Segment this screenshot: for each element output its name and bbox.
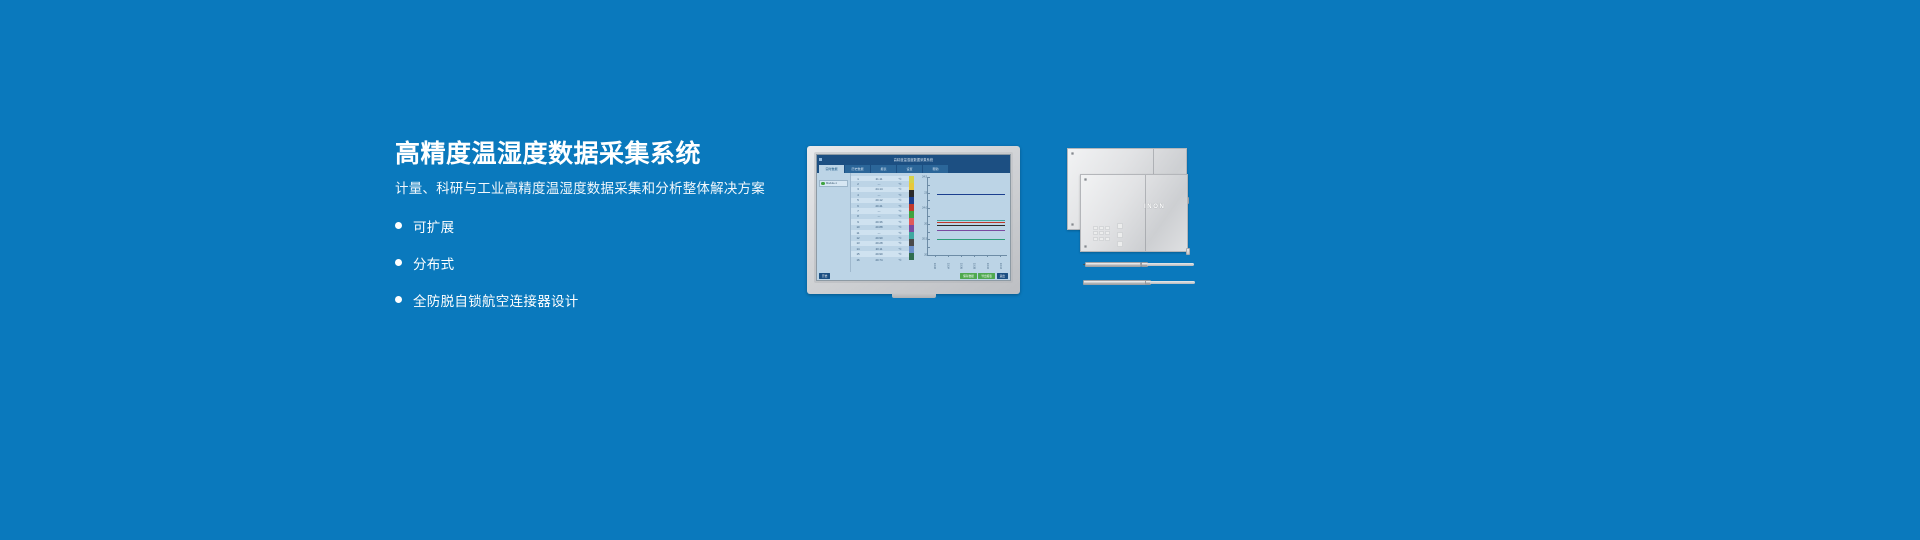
tab-history[interactable]: 历史数据: [845, 165, 870, 173]
tab-realtime[interactable]: 实时数据: [819, 165, 844, 173]
table-row[interactable]: 7---℃: [851, 208, 909, 213]
table-row[interactable]: 121.11℃: [851, 176, 909, 181]
table-row[interactable]: 8---℃: [851, 214, 909, 219]
x-tick-label: 10:32: [933, 263, 936, 269]
bullet-dot-icon: [395, 259, 402, 266]
table-row[interactable]: 1620.74℃: [851, 257, 909, 262]
cell-value: 20.41: [865, 204, 893, 208]
feature-label: 可扩展: [413, 216, 454, 236]
connector-tab: [1186, 248, 1191, 255]
monitor-stand: [892, 293, 936, 298]
cell-value: 20.90: [865, 252, 893, 256]
x-tick-label: 10:40: [986, 263, 989, 269]
cell-unit: ℃: [893, 247, 907, 251]
y-tick-label: 20: [918, 254, 927, 257]
tree-item-label: Module-1: [826, 182, 837, 185]
cell-value: 20.28: [865, 241, 893, 245]
y-tick-label: 24.0: [918, 207, 927, 210]
legend-swatch: [909, 176, 914, 183]
cell-unit: ℃: [893, 214, 907, 218]
temperature-probe-upper: [1083, 262, 1195, 267]
cell-channel: 14: [851, 247, 865, 251]
cell-channel: 7: [851, 209, 865, 213]
probe-sheath: [1085, 262, 1141, 266]
x-tick-label: 10:38: [973, 263, 976, 269]
page-subtitle: 计量、科研与工业高精度温湿度数据采集和分析整体解决方案: [395, 180, 795, 198]
cell-channel: 11: [851, 231, 865, 235]
x-tick-label: 10:34: [946, 263, 949, 269]
monitor-bezel: 高精度温湿度数据采集系统 实时数据 历史数据 报表 设置 帮助 Module-1: [814, 152, 1013, 283]
port-block: [1117, 223, 1123, 230]
port-block: [1117, 241, 1123, 248]
cell-value: 21.11: [865, 177, 893, 181]
legend-swatch: [909, 253, 914, 260]
table-row[interactable]: 620.41℃: [851, 203, 909, 208]
screw-icon: [1071, 223, 1074, 226]
app-logo-icon: [819, 158, 822, 161]
cell-value: 20.88: [865, 225, 893, 229]
cell-unit: ℃: [893, 193, 907, 197]
probe-tip: [1147, 263, 1194, 266]
acquisition-module-front: INON: [1080, 174, 1188, 252]
tab-report[interactable]: 报表: [871, 165, 896, 173]
start-button[interactable]: 开始: [819, 273, 830, 279]
cell-channel: 2: [851, 182, 865, 186]
legend-swatch: [909, 218, 914, 225]
legend-swatch: [909, 204, 914, 211]
series-legend-strip: [909, 176, 914, 260]
cell-value: 20.12: [865, 198, 893, 202]
table-row[interactable]: 920.36℃: [851, 219, 909, 224]
brand-logo-front: INON: [1144, 204, 1165, 210]
cell-unit: ℃: [893, 231, 907, 235]
cell-unit: ℃: [893, 236, 907, 240]
tab-settings[interactable]: 设置: [897, 165, 922, 173]
chart-series-ch5: [937, 222, 1005, 223]
cell-value: ---: [865, 231, 893, 235]
app-window-title: 高精度温湿度数据采集系统: [894, 157, 933, 162]
vent-grid: [1093, 226, 1110, 241]
table-row[interactable]: 520.12℃: [851, 198, 909, 203]
device-tree-panel: Module-1: [817, 173, 851, 272]
cell-unit: ℃: [893, 187, 907, 191]
table-row[interactable]: 4---℃: [851, 192, 909, 197]
page-title: 高精度温湿度数据采集系统: [395, 140, 795, 168]
sensor-probe-group: [1083, 258, 1198, 294]
chart-series-ch3: [937, 194, 1005, 195]
chart-series-ch9: [937, 225, 1005, 226]
cell-unit: ℃: [893, 220, 907, 224]
port-block: [1117, 232, 1123, 239]
app-footer-toolbar: 开始 保存数据 导出报表 退出: [817, 272, 1010, 280]
table-row[interactable]: 1320.28℃: [851, 241, 909, 246]
cell-unit: ℃: [893, 209, 907, 213]
cell-channel: 12: [851, 236, 865, 240]
app-titlebar: 高精度温湿度数据采集系统: [817, 155, 1010, 164]
y-tick-label: 24.5: [918, 176, 927, 179]
save-data-button[interactable]: 保存数据: [960, 273, 977, 279]
cell-unit: ℃: [893, 182, 907, 186]
cell-channel: 10: [851, 225, 865, 229]
table-row[interactable]: 1220.90℃: [851, 235, 909, 240]
monitor-screen: 高精度温湿度数据采集系统 实时数据 历史数据 报表 设置 帮助 Module-1: [816, 154, 1011, 281]
screw-icon: [1084, 245, 1087, 248]
probe-tip: [1150, 281, 1195, 284]
screw-icon: [1071, 152, 1074, 155]
banner-copy: 高精度温湿度数据采集系统 计量、科研与工业高精度温湿度数据采集和分析整体解决方案…: [395, 140, 795, 324]
table-row[interactable]: 1420.11℃: [851, 246, 909, 251]
cell-value: 24.14: [865, 187, 893, 191]
legend-swatch: [909, 225, 914, 232]
product-banner: 高精度温湿度数据采集系统 计量、科研与工业高精度温湿度数据采集和分析整体解决方案…: [0, 0, 1920, 540]
tab-help[interactable]: 帮助: [923, 165, 948, 173]
table-row[interactable]: 1020.88℃: [851, 225, 909, 230]
cell-unit: ℃: [893, 204, 907, 208]
cell-value: 20.90: [865, 236, 893, 240]
app-body: Module-1 121.11℃2---℃324.14℃4---℃520.12℃…: [817, 173, 1010, 272]
cell-unit: ℃: [893, 252, 907, 256]
legend-swatch: [909, 232, 914, 239]
chart-series-ch12: [937, 230, 1005, 231]
cell-unit: ℃: [893, 225, 907, 229]
cell-channel: 15: [851, 252, 865, 256]
legend-swatch: [909, 239, 914, 246]
cell-value: 20.74: [865, 258, 893, 262]
y-tick-label: 23: [918, 191, 927, 194]
exit-button[interactable]: 退出: [997, 273, 1008, 279]
cell-value: 20.11: [865, 247, 893, 251]
cell-channel: 3: [851, 187, 865, 191]
legend-swatch: [909, 246, 914, 253]
temperature-probe-lower: [1083, 280, 1195, 285]
list-item: 分布式: [395, 250, 795, 275]
panel-seam: [1145, 175, 1146, 251]
legend-swatch: [909, 183, 914, 190]
cell-channel: 1: [851, 177, 865, 181]
cell-value: ---: [865, 214, 893, 218]
cell-channel: 6: [851, 204, 865, 208]
y-tick-label: 20.5: [918, 238, 927, 241]
feature-list: 可扩展 分布式 全防脱自锁航空连接器设计: [395, 213, 795, 312]
cell-channel: 9: [851, 220, 865, 224]
chart-series-ch1: [937, 220, 1005, 221]
chart-plot-area: 24.52324.02020.52010:3210:3410:3610:3810…: [927, 177, 1007, 256]
footer-spacer: [832, 273, 959, 279]
cell-value: ---: [865, 193, 893, 197]
cell-unit: ℃: [893, 198, 907, 202]
list-item: 可扩展: [395, 213, 795, 238]
tree-item-module[interactable]: Module-1: [819, 180, 848, 187]
bullet-dot-icon: [395, 296, 402, 303]
cell-channel: 5: [851, 198, 865, 202]
cell-unit: ℃: [893, 241, 907, 245]
realtime-chart: 24.52324.02020.52010:3210:3410:3610:3810…: [916, 173, 1010, 272]
cell-channel: 16: [851, 258, 865, 262]
cell-value: ---: [865, 209, 893, 213]
list-item: 全防脱自锁航空连接器设计: [395, 287, 795, 312]
table-row[interactable]: 11---℃: [851, 230, 909, 235]
export-report-button[interactable]: 导出报表: [978, 273, 995, 279]
table-row[interactable]: 324.14℃: [851, 187, 909, 192]
feature-label: 全防脱自锁航空连接器设计: [413, 290, 579, 310]
x-tick-label: 10:36: [959, 263, 962, 269]
panel-pc-device: 高精度温湿度数据采集系统 实时数据 历史数据 报表 设置 帮助 Module-1: [807, 146, 1020, 294]
cell-channel: 4: [851, 193, 865, 197]
status-ok-icon: [821, 182, 825, 186]
x-tick-label: 10:42: [999, 263, 1002, 269]
cell-unit: ℃: [893, 177, 907, 181]
legend-swatch: [909, 190, 914, 197]
app-tab-bar: 实时数据 历史数据 报表 设置 帮助: [817, 164, 1010, 173]
legend-swatch: [909, 211, 914, 218]
bullet-dot-icon: [395, 222, 402, 229]
cell-channel: 13: [851, 241, 865, 245]
channel-data-table: 121.11℃2---℃324.14℃4---℃520.12℃620.41℃7-…: [851, 173, 909, 272]
chart-series-ch16: [937, 239, 1005, 240]
cell-channel: 8: [851, 214, 865, 218]
screw-icon: [1084, 178, 1087, 181]
table-row[interactable]: 1520.90℃: [851, 251, 909, 256]
cell-value: 20.36: [865, 220, 893, 224]
y-tick-label: 20: [918, 222, 927, 225]
feature-label: 分布式: [413, 253, 454, 273]
cell-value: ---: [865, 182, 893, 186]
probe-sheath: [1083, 280, 1147, 284]
cell-unit: ℃: [893, 258, 907, 262]
legend-swatch: [909, 197, 914, 204]
table-row[interactable]: 2---℃: [851, 181, 909, 186]
